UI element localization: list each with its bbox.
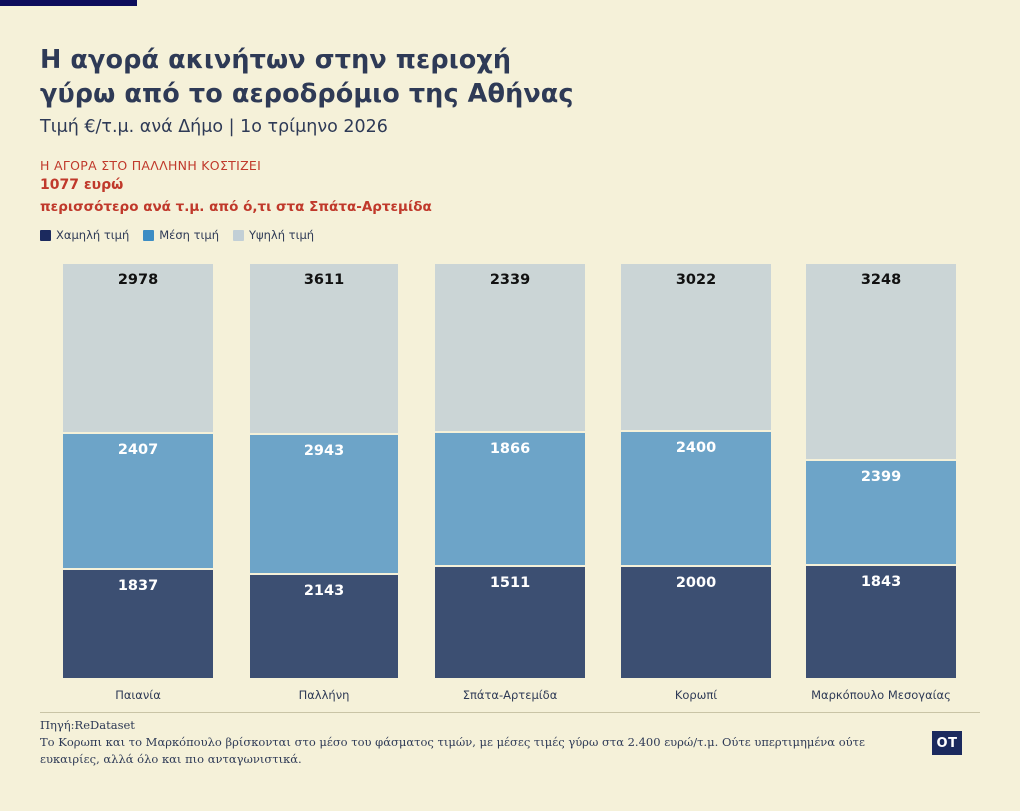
footer: Πηγή:ReDataset Το Κορωπι και το Μαρκόπου… [40, 718, 930, 767]
bar-segment-high[interactable]: 3248 [806, 264, 956, 459]
bar-value-label: 2978 [63, 272, 213, 288]
brand-accent-bar [0, 0, 137, 6]
bar-segment-low[interactable]: 2143 [250, 573, 398, 678]
bar-segment-high[interactable]: 3022 [621, 264, 771, 430]
bar-value-label: 2399 [806, 469, 956, 485]
bar-segment-mid[interactable]: 2943 [250, 433, 398, 573]
bar-segment-mid[interactable]: 2400 [621, 430, 771, 565]
callout-line-3: περισσότερο ανά τ.μ. από ό,τι στα Σπάτα-… [40, 197, 432, 218]
bar-segment-low[interactable]: 1843 [806, 564, 956, 678]
page-subtitle: Τιμή €/τ.μ. ανά Δήμο | 1ο τρίμηνο 2026 [40, 117, 388, 137]
footer-note-line-2: αλλά όλο και πιο ανταγωνιστικά. [103, 752, 301, 766]
bar-segment-high[interactable]: 3611 [250, 264, 398, 433]
callout-block: Η ΑΓΟΡΑ ΣΤΟ ΠΑΛΛΗΝΗ ΚΟΣΤΙΖΕΙ 1077 ευρώ π… [40, 156, 432, 218]
callout-line-2: 1077 ευρώ [40, 175, 432, 197]
bar-segment-low[interactable]: 1837 [63, 568, 213, 678]
x-axis-label: Μαρκόπουλο Μεσογαίας [806, 688, 956, 702]
bar-value-label: 2000 [621, 575, 771, 591]
legend-item-0[interactable]: Χαμηλή τιμή [40, 228, 129, 242]
page-title: Η αγορά ακινήτων στην περιοχή γύρω από τ… [40, 44, 740, 112]
legend-label: Μέση τιμή [159, 228, 219, 242]
footer-note: Το Κορωπι και το Μαρκόπουλο βρίσκονται σ… [40, 734, 920, 767]
ot-logo: OT [932, 731, 962, 755]
bar-column[interactable]: 297824071837 [63, 262, 213, 682]
bar-segment-low[interactable]: 1511 [435, 565, 585, 678]
bar-value-label: 1843 [806, 574, 956, 590]
bar-segment-mid[interactable]: 2407 [63, 432, 213, 568]
x-axis-label: Παιανία [63, 688, 213, 702]
x-axis-label: Σπάτα-Αρτεμίδα [435, 688, 585, 702]
bar-segment-mid[interactable]: 1866 [435, 431, 585, 565]
bar-segment-mid[interactable]: 2399 [806, 459, 956, 564]
bar-value-label: 2407 [63, 442, 213, 458]
bar-value-label: 3611 [250, 272, 398, 288]
legend-label: Χαμηλή τιμή [56, 228, 129, 242]
legend-swatch-icon [233, 230, 244, 241]
legend-swatch-icon [143, 230, 154, 241]
bar-value-label: 3022 [621, 272, 771, 288]
bar-value-label: 1511 [435, 575, 585, 591]
bar-value-label: 2400 [621, 440, 771, 456]
bar-column[interactable]: 233918661511 [435, 262, 585, 682]
bar-column[interactable]: 361129432143 [250, 262, 398, 682]
chart-plot-area: 2978240718373611294321432339186615113022… [0, 262, 1020, 682]
bar-value-label: 1866 [435, 441, 585, 457]
bar-column[interactable]: 302224002000 [621, 262, 771, 682]
x-axis-label: Κορωπί [621, 688, 771, 702]
bar-segment-high[interactable]: 2339 [435, 264, 585, 431]
legend-label: Υψηλή τιμή [249, 228, 314, 242]
chart-legend: Χαμηλή τιμήΜέση τιμήΥψηλή τιμή [40, 228, 314, 242]
bar-value-label: 3248 [806, 272, 956, 288]
x-axis-label: Παλλήνη [250, 688, 398, 702]
bar-value-label: 2339 [435, 272, 585, 288]
bar-column[interactable]: 324823991843 [806, 262, 956, 682]
bar-value-label: 1837 [63, 578, 213, 594]
bar-segment-low[interactable]: 2000 [621, 565, 771, 678]
footer-divider [40, 712, 980, 713]
bar-value-label: 2943 [250, 443, 398, 459]
callout-line-1: Η ΑΓΟΡΑ ΣΤΟ ΠΑΛΛΗΝΗ ΚΟΣΤΙΖΕΙ [40, 156, 432, 175]
legend-item-2[interactable]: Υψηλή τιμή [233, 228, 314, 242]
page-title-line-2: γύρω από το αεροδρόμιο της Αθήνας [40, 78, 740, 112]
bar-value-label: 2143 [250, 583, 398, 599]
bar-segment-high[interactable]: 2978 [63, 264, 213, 432]
source-text: Πηγή:ReDataset [40, 718, 930, 732]
legend-item-1[interactable]: Μέση τιμή [143, 228, 219, 242]
page-title-line-1: Η αγορά ακινήτων στην περιοχή [40, 44, 740, 78]
legend-swatch-icon [40, 230, 51, 241]
